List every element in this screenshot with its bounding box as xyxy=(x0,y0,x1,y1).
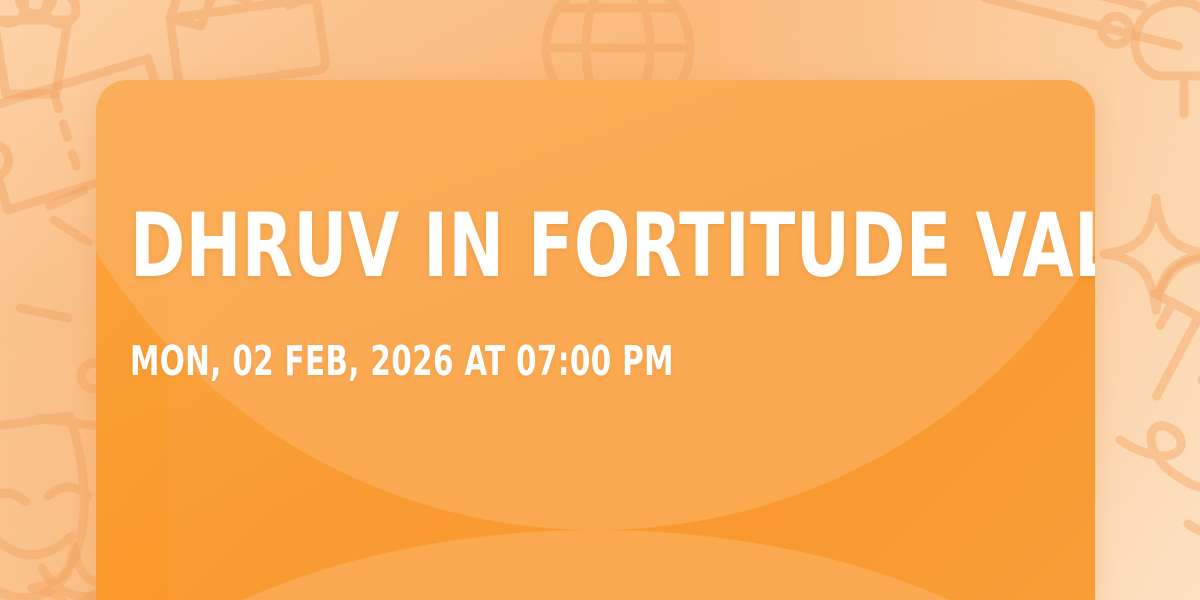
page-title: Dhruv in Fortitude Valley xyxy=(130,202,1095,290)
swirl-icon xyxy=(1084,372,1200,600)
event-banner: Dhruv in Fortitude Valley Mon, 02 Feb, 2… xyxy=(0,0,1200,600)
balloon-icon xyxy=(1118,0,1200,130)
event-card: Dhruv in Fortitude Valley Mon, 02 Feb, 2… xyxy=(96,80,1095,600)
event-datetime: Mon, 02 Feb, 2026 at 07:00 PM xyxy=(130,341,674,382)
popcorn-icon xyxy=(0,0,106,106)
